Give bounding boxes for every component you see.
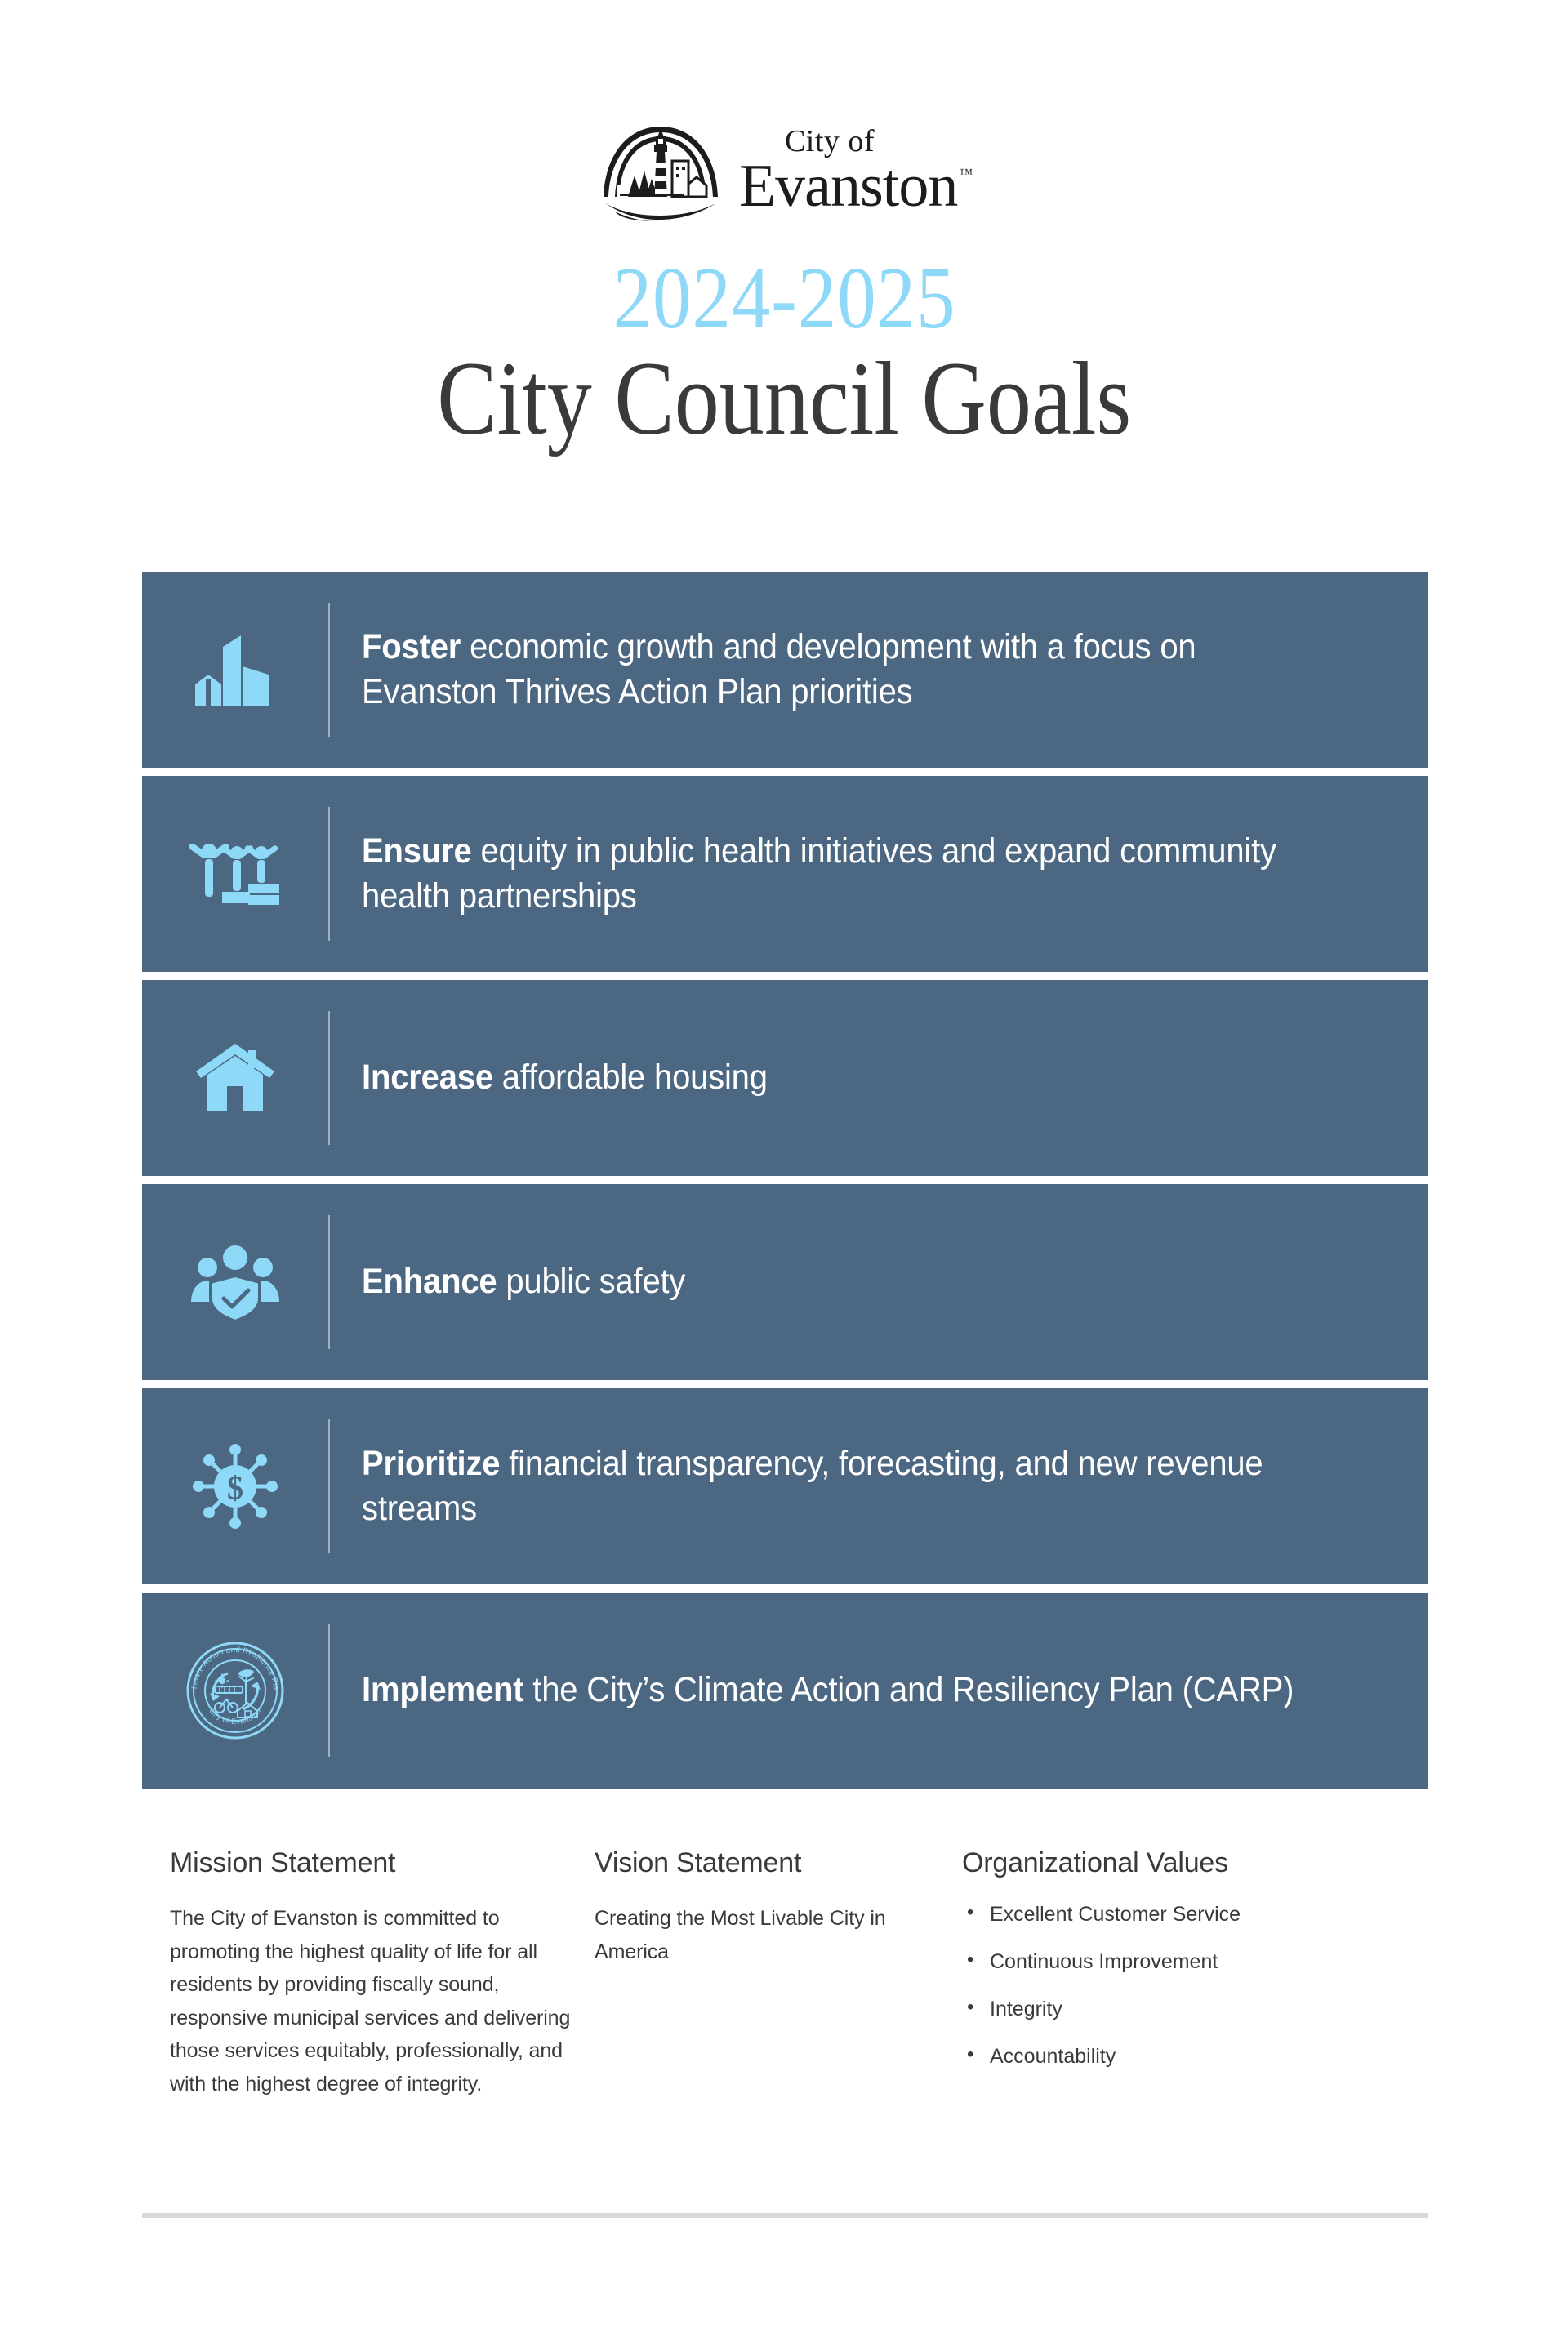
vision-body: Creating the Most Livable City in Americ…: [595, 1902, 962, 1968]
city-buildings-icon: [190, 627, 280, 712]
footer-divider-rule: [142, 2213, 1428, 2218]
people-shield-check-icon: [188, 1243, 283, 1321]
logo-wordmark: City of Evanston ™: [739, 126, 973, 217]
goal-icon-wrap: [142, 627, 328, 712]
organizational-values-section: Organizational Values Excellent Customer…: [962, 1847, 1387, 2091]
bottom-sections: Mission Statement The City of Evanston i…: [170, 1847, 1428, 2100]
goal-lead-word: Implement: [362, 1670, 523, 1709]
vision-statement-section: Vision Statement Creating the Most Livab…: [595, 1847, 962, 1968]
goal-rest-text: economic growth and development with a f…: [362, 627, 1196, 711]
list-item: Integrity: [962, 1997, 1387, 2021]
goal-rest-text: the City’s Climate Action and Resiliency…: [523, 1670, 1294, 1709]
year-range: 2024-2025: [612, 255, 955, 343]
mission-body: The City of Evanston is committed to pro…: [170, 1902, 595, 2100]
goal-lead-word: Ensure: [362, 831, 471, 871]
values-heading: Organizational Values: [962, 1847, 1387, 1879]
goal-rest-text: equity in public health initiatives and …: [362, 831, 1276, 915]
vision-heading: Vision Statement: [595, 1847, 962, 1879]
goal-icon-wrap: Climate Action and Resilience Plan City …: [142, 1641, 328, 1740]
house-icon: [193, 1039, 278, 1117]
goal-text: Prioritize financial transparency, forec…: [330, 1441, 1351, 1531]
list-item: Excellent Customer Service: [962, 1902, 1387, 1927]
goal-item-public-safety[interactable]: Enhance public safety: [142, 1184, 1428, 1380]
goal-lead-word: Increase: [362, 1058, 493, 1097]
goal-item-affordable-housing[interactable]: Increase affordable housing: [142, 980, 1428, 1176]
evanston-lighthouse-seal-icon: [595, 122, 726, 221]
list-item: Continuous Improvement: [962, 1949, 1387, 1974]
logo-evanston-text: Evanston: [739, 158, 957, 214]
mission-heading: Mission Statement: [170, 1847, 595, 1879]
goal-text: Increase affordable housing: [330, 1055, 1351, 1100]
goal-text: Foster economic growth and development w…: [330, 625, 1351, 715]
goal-item-economic-growth[interactable]: Foster economic growth and development w…: [142, 572, 1428, 768]
mission-statement-section: Mission Statement The City of Evanston i…: [170, 1847, 595, 2100]
goal-rest-text: public safety: [497, 1262, 685, 1301]
poster-header: City of Evanston ™ 2024-2025 City Counci…: [0, 0, 1568, 451]
goal-icon-wrap: [142, 833, 328, 915]
carp-climate-seal-icon: Climate Action and Resilience Plan City …: [185, 1641, 285, 1740]
dollar-hub-network-icon: $: [190, 1441, 280, 1531]
equity-people-on-boxes-icon: [186, 833, 284, 915]
page-title: City Council Goals: [437, 346, 1131, 451]
goal-lead-word: Enhance: [362, 1262, 497, 1301]
goal-text: Implement the City’s Climate Action and …: [330, 1668, 1351, 1713]
goal-text: Enhance public safety: [330, 1259, 1351, 1304]
goal-lead-word: Prioritize: [362, 1444, 500, 1483]
goal-rest-text: affordable housing: [493, 1058, 768, 1097]
goal-icon-wrap: $: [142, 1441, 328, 1531]
svg-text:Climate Action and Resilience: Climate Action and Resilience Plan: [185, 1641, 280, 1690]
carp-seal-top-text: Climate Action and Resilience Plan: [185, 1641, 280, 1690]
goal-item-health-equity[interactable]: Ensure equity in public health initiativ…: [142, 776, 1428, 972]
goal-lead-word: Foster: [362, 627, 461, 666]
goal-icon-wrap: [142, 1039, 328, 1117]
goal-icon-wrap: [142, 1243, 328, 1321]
list-item: Accountability: [962, 2044, 1387, 2069]
trademark-symbol: ™: [959, 167, 973, 180]
city-of-evanston-logo: City of Evanston ™: [595, 119, 973, 224]
values-list: Excellent Customer Service Continuous Im…: [962, 1902, 1387, 2069]
goal-text: Ensure equity in public health initiativ…: [330, 829, 1351, 919]
goal-item-financial-transparency[interactable]: $ Prioritize financial transparency, for…: [142, 1388, 1428, 1584]
svg-text:$: $: [227, 1469, 243, 1506]
goals-list: Foster economic growth and development w…: [142, 572, 1428, 1797]
goal-item-carp[interactable]: Climate Action and Resilience Plan City …: [142, 1592, 1428, 1788]
